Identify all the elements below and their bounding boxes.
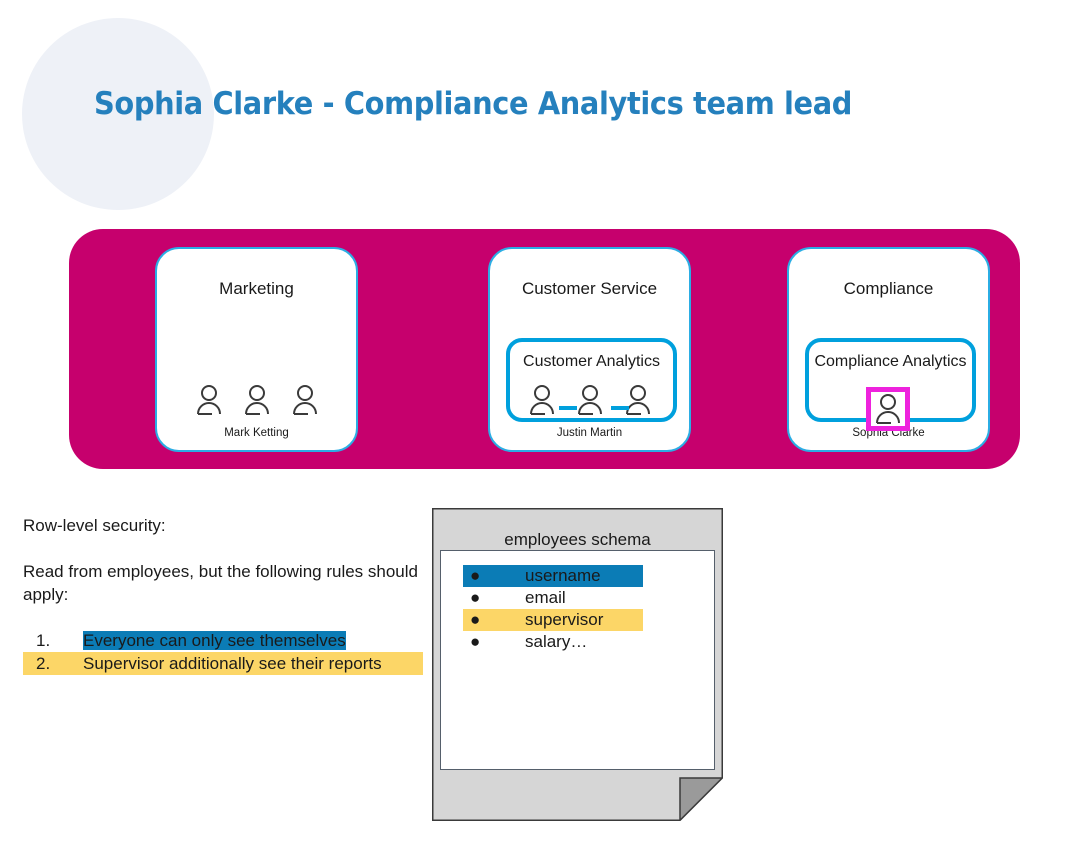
org-banner: Marketing Mark Ketting Customer Service <box>69 229 1020 469</box>
dept-title: Customer Service <box>490 279 689 299</box>
schema-field-row: ● supervisor <box>463 609 643 631</box>
schema-field-row: ● username <box>463 565 643 587</box>
schema-field-list: ● username ● email ● supervisor ● salary… <box>441 551 714 653</box>
bullet-icon: ● <box>470 587 480 609</box>
schema-field-name: salary… <box>493 632 587 651</box>
schema-field-row: ● email <box>463 587 643 609</box>
rls-rules-list: 1. Everyone can only see themselves 2. S… <box>23 629 423 675</box>
highlighted-person-box-sophia-clarke[interactable] <box>866 387 910 431</box>
dept-card-customer-service[interactable]: Customer Service Customer Analytics Just… <box>488 247 691 452</box>
person-icon <box>874 393 902 425</box>
people-row <box>157 384 356 416</box>
page-title: Sophia Clarke - Compliance Analytics tea… <box>94 86 852 122</box>
rule-number: 2. <box>36 652 66 675</box>
subteam-label: Compliance Analytics <box>809 352 972 372</box>
rule-number: 1. <box>36 629 66 652</box>
rls-heading: Row-level security: <box>23 514 423 537</box>
person-icon <box>243 384 271 416</box>
rls-rule-item: 1. Everyone can only see themselves <box>23 629 423 652</box>
people-row <box>490 384 689 416</box>
schema-field-name: supervisor <box>493 610 603 629</box>
dept-footer-name: Justin Martin <box>490 427 689 439</box>
person-icon <box>291 384 319 416</box>
schema-field-row: ● salary… <box>463 631 643 653</box>
rule-text: Supervisor additionally see their report… <box>83 654 382 673</box>
team-connector-dash <box>559 406 577 410</box>
team-connector-dash <box>611 406 629 410</box>
dept-footer-name: Mark Ketting <box>157 427 356 439</box>
schema-fields-panel: ● username ● email ● supervisor ● salary… <box>440 550 715 770</box>
person-icon <box>576 384 604 416</box>
row-level-security-section: Row-level security: Read from employees,… <box>23 514 423 675</box>
rls-intro-text: Read from employees, but the following r… <box>23 560 423 606</box>
dept-card-marketing[interactable]: Marketing Mark Ketting <box>155 247 358 452</box>
dept-title: Marketing <box>157 279 356 299</box>
person-icon <box>528 384 556 416</box>
schema-field-name: username <box>493 566 601 585</box>
dept-title: Compliance <box>789 279 988 299</box>
rule-text: Everyone can only see themselves <box>83 631 346 650</box>
bullet-icon: ● <box>470 631 480 653</box>
rls-rule-item: 2. Supervisor additionally see their rep… <box>23 652 423 675</box>
schema-doc-title: employees schema <box>432 530 723 550</box>
employees-schema-document[interactable]: employees schema ● username ● email ● su… <box>432 508 723 821</box>
bullet-icon: ● <box>470 609 480 631</box>
bullet-icon: ● <box>470 565 480 587</box>
person-icon <box>624 384 652 416</box>
schema-field-name: email <box>493 588 566 607</box>
subteam-label: Customer Analytics <box>510 352 673 372</box>
person-icon <box>195 384 223 416</box>
